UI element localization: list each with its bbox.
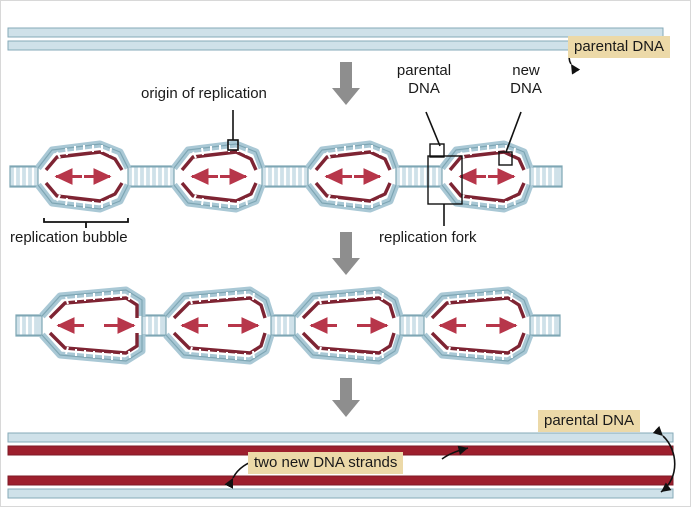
stage-arrow-3-icon xyxy=(332,378,360,417)
replication-bubble-3 xyxy=(308,144,396,209)
label-new-dna-callout-line1: new xyxy=(495,62,557,79)
daughter-2-new-strand xyxy=(8,476,673,485)
replication-bubble-4 xyxy=(428,144,530,209)
stage-2-replication-bubbles xyxy=(10,110,562,228)
label-replication-bubble: replication bubble xyxy=(10,229,128,246)
parental-dna-leader-line xyxy=(426,112,440,146)
stage-arrow-1-icon xyxy=(332,62,360,105)
label-new-dna-callout-line2: DNA xyxy=(495,80,557,97)
label-two-new-dna-strands: two new DNA strands xyxy=(248,452,403,474)
label-parental-dna-bottom: parental DNA xyxy=(538,410,640,432)
label-parental-dna-top: parental DNA xyxy=(568,36,670,58)
duplex-segments-row2 xyxy=(16,315,560,336)
label-origin-of-replication: origin of replication xyxy=(141,85,267,102)
daughter-1-parental-strand xyxy=(8,433,673,442)
replication-bubble-2 xyxy=(174,140,262,209)
stage-arrow-2-icon xyxy=(332,232,360,275)
dna-replication-diagram: parental DNA origin of replication paren… xyxy=(0,0,692,508)
enlarged-bubble-3 xyxy=(295,290,400,361)
label-replication-fork: replication fork xyxy=(379,229,477,246)
replication-bubble-bracket xyxy=(44,218,128,222)
stage-1-parental-dna xyxy=(8,28,663,64)
replication-bubble-1 xyxy=(38,144,128,209)
enlarged-bubble-4 xyxy=(424,290,530,361)
label-parental-dna-callout-line2: DNA xyxy=(387,80,461,97)
stage-3-enlarged-bubbles xyxy=(16,290,560,361)
enlarged-bubble-1 xyxy=(42,290,142,361)
enlarged-bubble-2 xyxy=(166,290,271,361)
daughter-2-parental-strand xyxy=(8,489,673,498)
parental-dna-callout-box xyxy=(430,144,444,157)
label-parental-dna-callout-line1: parental xyxy=(387,62,461,79)
